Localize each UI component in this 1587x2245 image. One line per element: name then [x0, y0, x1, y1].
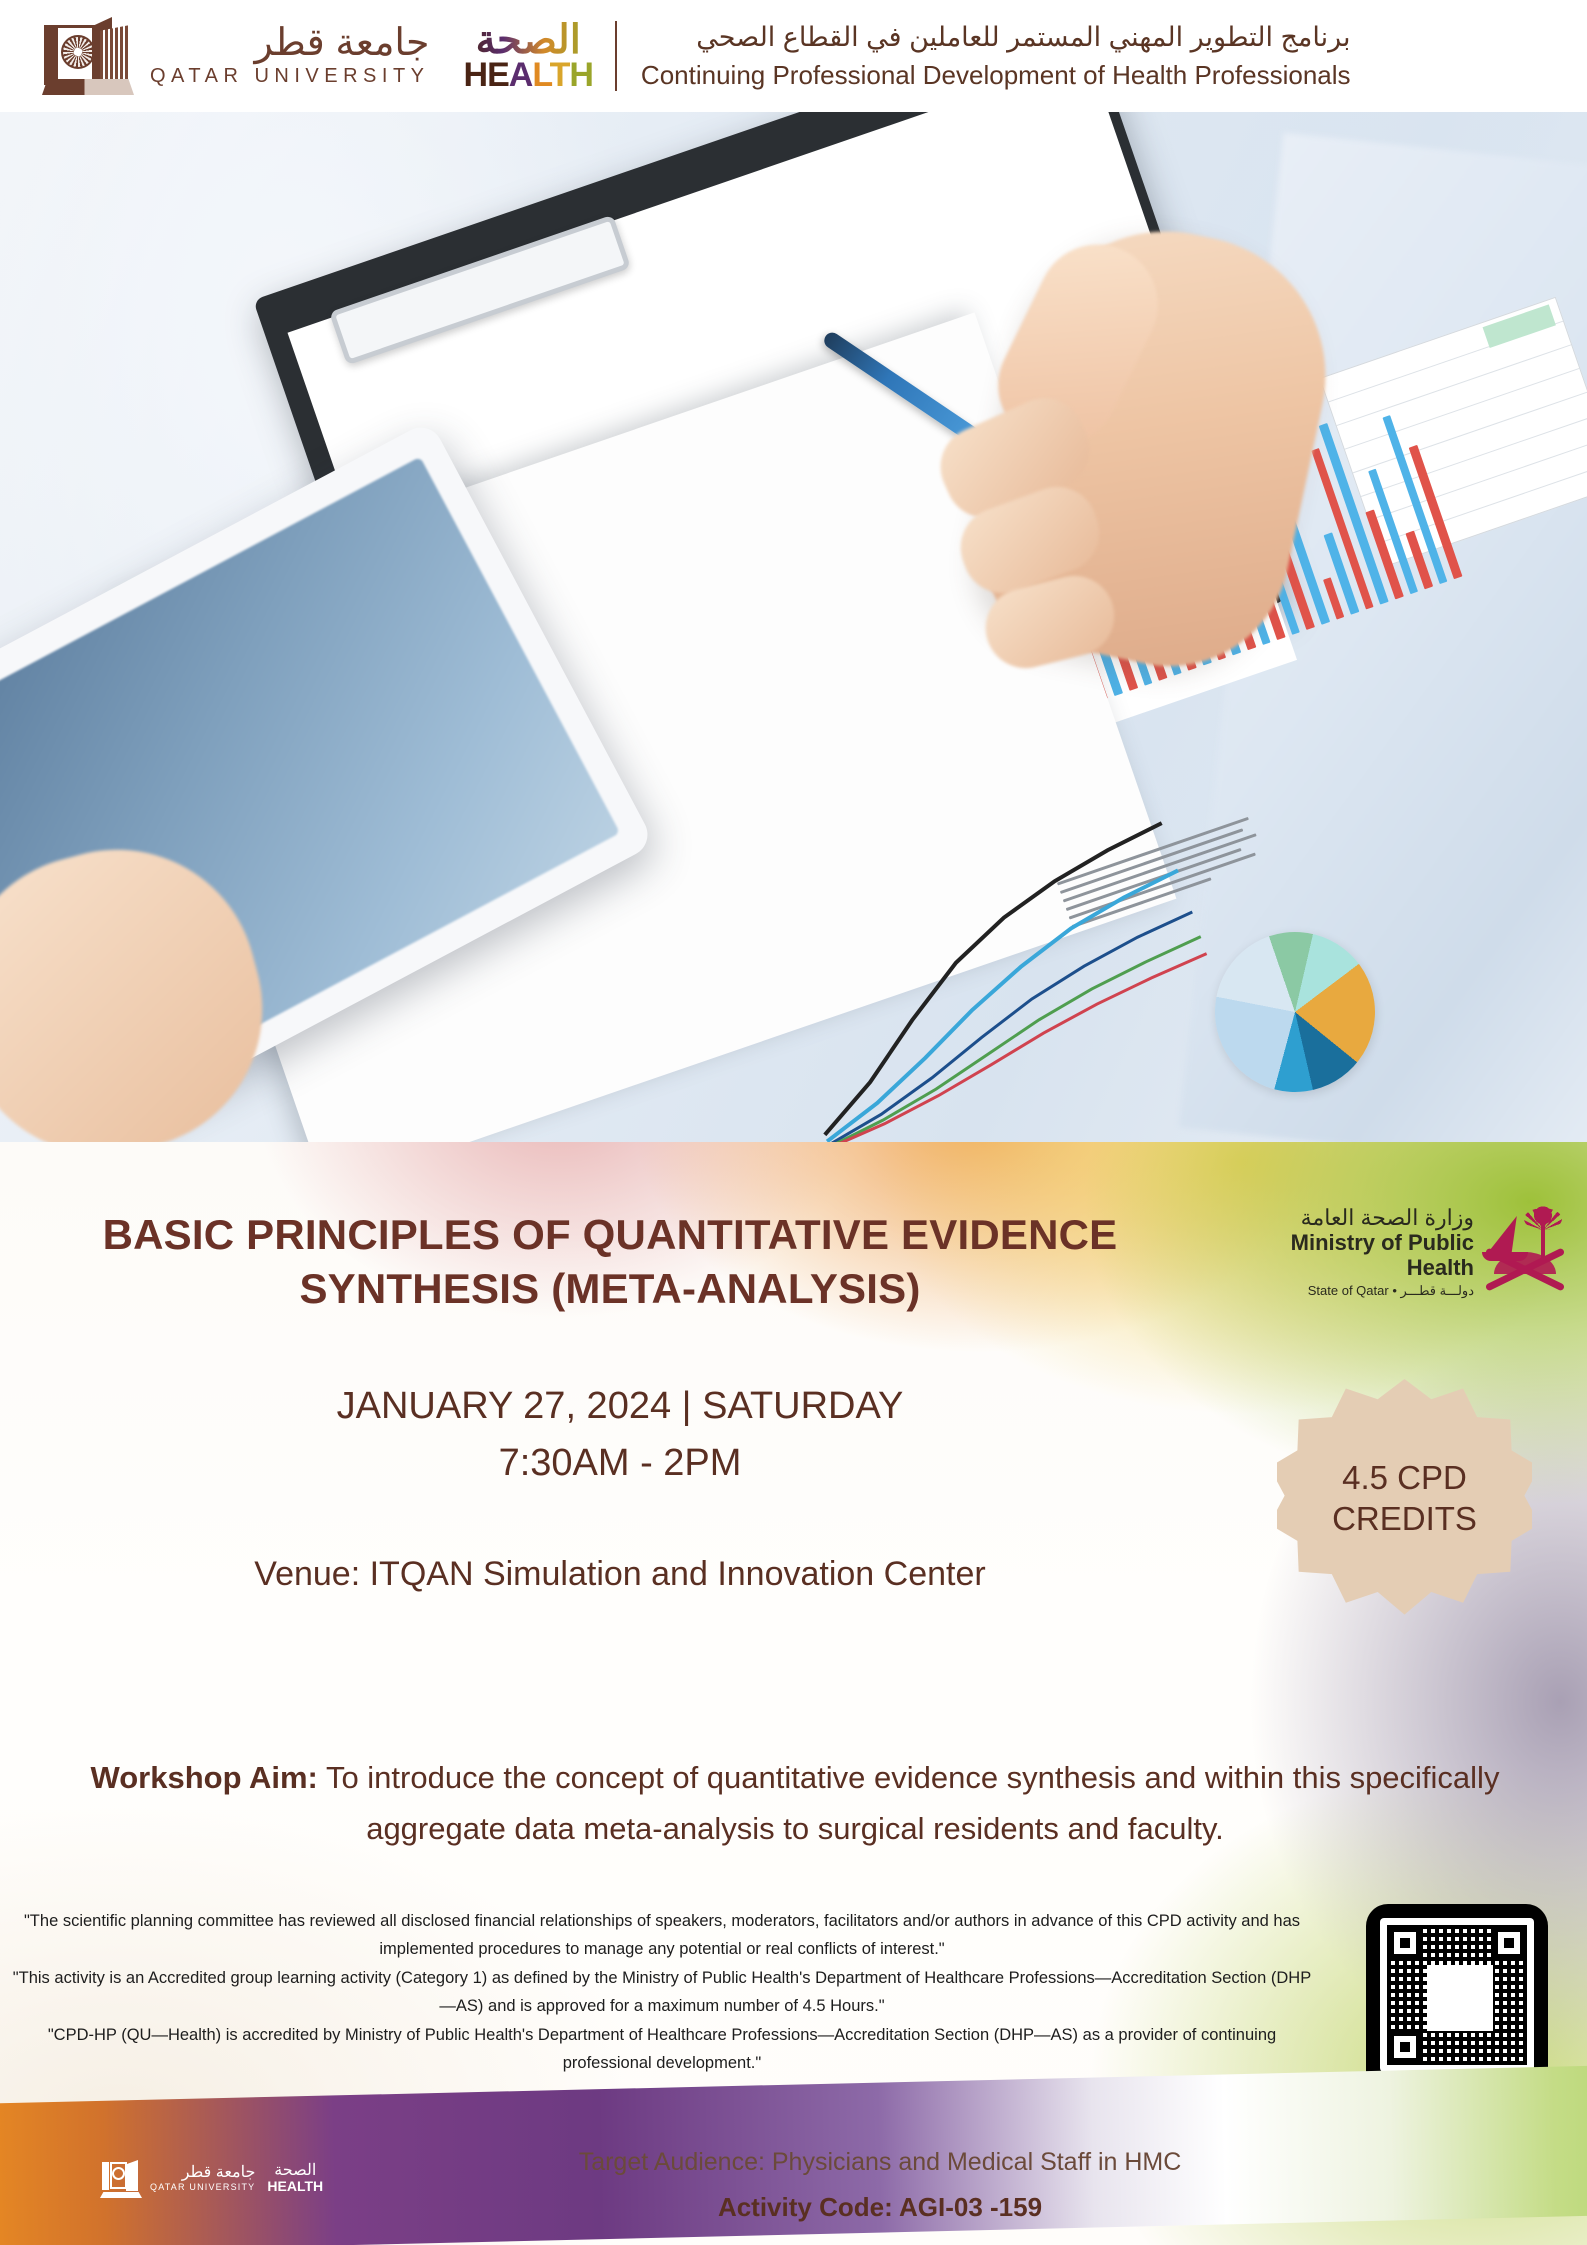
- moph-arabic-name: وزارة الصحة العامة: [1232, 1206, 1474, 1230]
- footer-qu-english: QATAR UNIVERSITY: [150, 2181, 255, 2194]
- poster-header: جامعة قطر QATAR UNIVERSITY الصحة HEALTH …: [0, 0, 1587, 112]
- moph-english-name: Ministry of Public Health: [1232, 1230, 1474, 1281]
- event-time: 7:30AM - 2PM: [120, 1435, 1120, 1492]
- qr-finder-top-left-icon: [1387, 1925, 1423, 1961]
- header-divider: [615, 21, 617, 91]
- program-title-english: Continuing Professional Development of H…: [641, 59, 1351, 92]
- health-logo-english: HEALTH: [464, 58, 593, 92]
- qu-logo-english: QATAR UNIVERSITY: [150, 65, 430, 88]
- moph-sub-english: State of Qatar: [1308, 1283, 1389, 1298]
- program-title-block: برنامج التطوير المهني المستمر للعاملين ف…: [641, 21, 1351, 91]
- qu-logo-arabic: جامعة قطر: [150, 24, 430, 64]
- qatar-university-logo: جامعة قطر QATAR UNIVERSITY: [38, 17, 430, 95]
- qr-finder-top-right-icon: [1491, 1925, 1527, 1961]
- program-title-arabic: برنامج التطوير المهني المستمر للعاملين ف…: [641, 21, 1351, 55]
- ministry-of-public-health-logo: وزارة الصحة العامة Ministry of Public He…: [1232, 1192, 1572, 1312]
- poster: جامعة قطر QATAR UNIVERSITY الصحة HEALTH …: [0, 0, 1587, 2245]
- hero-photo: حمد Hamad مؤسسة حمد الطبية Hamad Medical…: [0, 112, 1587, 1142]
- qatar-university-mark-icon: [38, 17, 128, 95]
- qr-finder-bottom-left-icon: [1387, 2029, 1423, 2065]
- health-logo-arabic: الصحة: [464, 20, 593, 60]
- health-logo: الصحة HEALTH: [464, 20, 593, 92]
- event-date: JANUARY 27, 2024 | SATURDAY: [120, 1378, 1120, 1435]
- footer-qu-arabic: جامعة قطر: [150, 2165, 255, 2181]
- footer-qu-mark-icon: [100, 2160, 142, 2198]
- disclaimer-line-1: "The scientific planning committee has r…: [12, 1907, 1312, 1964]
- workshop-aim: Workshop Aim: To introduce the concept o…: [55, 1752, 1535, 1854]
- disclaimer-line-3: "CPD-HP (QU—Health) is accredited by Min…: [12, 2021, 1312, 2078]
- footer-logo: جامعة قطر QATAR UNIVERSITY الصحة HEALTH: [100, 2160, 323, 2198]
- event-datetime: JANUARY 27, 2024 | SATURDAY 7:30AM - 2PM: [120, 1378, 1120, 1492]
- accreditation-disclaimer: "The scientific planning committee has r…: [12, 1907, 1312, 2077]
- disclaimer-line-2: "This activity is an Accredited group le…: [12, 1964, 1312, 2021]
- activity-code: Activity Code: AGI-03 -159: [430, 2192, 1330, 2223]
- moph-sub-arabic: دولـــة قطـــر: [1400, 1283, 1474, 1298]
- footer-health-english: HEALTH: [267, 2179, 323, 2194]
- page-title: BASIC PRINCIPLES OF QUANTITATIVE EVIDENC…: [30, 1208, 1190, 1316]
- qatar-emblem-icon: [1478, 1202, 1572, 1302]
- target-audience: Target Audience: Physicians and Medical …: [430, 2148, 1330, 2177]
- footer-health-arabic: الصحة: [267, 2163, 323, 2179]
- workshop-aim-text: To introduce the concept of quantitative…: [318, 1760, 1500, 1846]
- event-venue: Venue: ITQAN Simulation and Innovation C…: [80, 1555, 1160, 1594]
- workshop-aim-label: Workshop Aim:: [91, 1760, 318, 1795]
- qr-code-image[interactable]: [1380, 1918, 1534, 2072]
